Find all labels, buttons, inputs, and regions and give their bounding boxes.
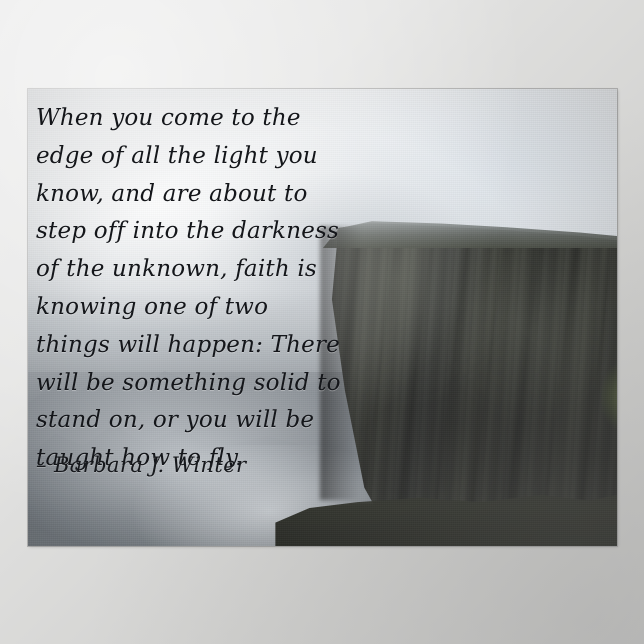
quote-line: of the unknown, faith is [36,251,354,289]
quote-line: knowing one of two [36,289,354,327]
quote-line: will be something solid to [36,365,354,403]
poster: When you come to the edge of all the lig… [0,0,644,644]
quote-line: know, and are about to [36,176,354,214]
quote-line: step off into the darkness [36,213,354,251]
quote-line: edge of all the light you [36,138,354,176]
quote-text: When you come to the edge of all the lig… [36,100,354,478]
quote-line: things will happen: There [36,327,354,365]
cliff-vegetation-upper [601,364,617,429]
quote-line: When you come to the [36,100,354,138]
quote-attribution: – Barbara J. Winter [36,452,354,478]
quote-line: stand on, or you will be [36,402,354,440]
